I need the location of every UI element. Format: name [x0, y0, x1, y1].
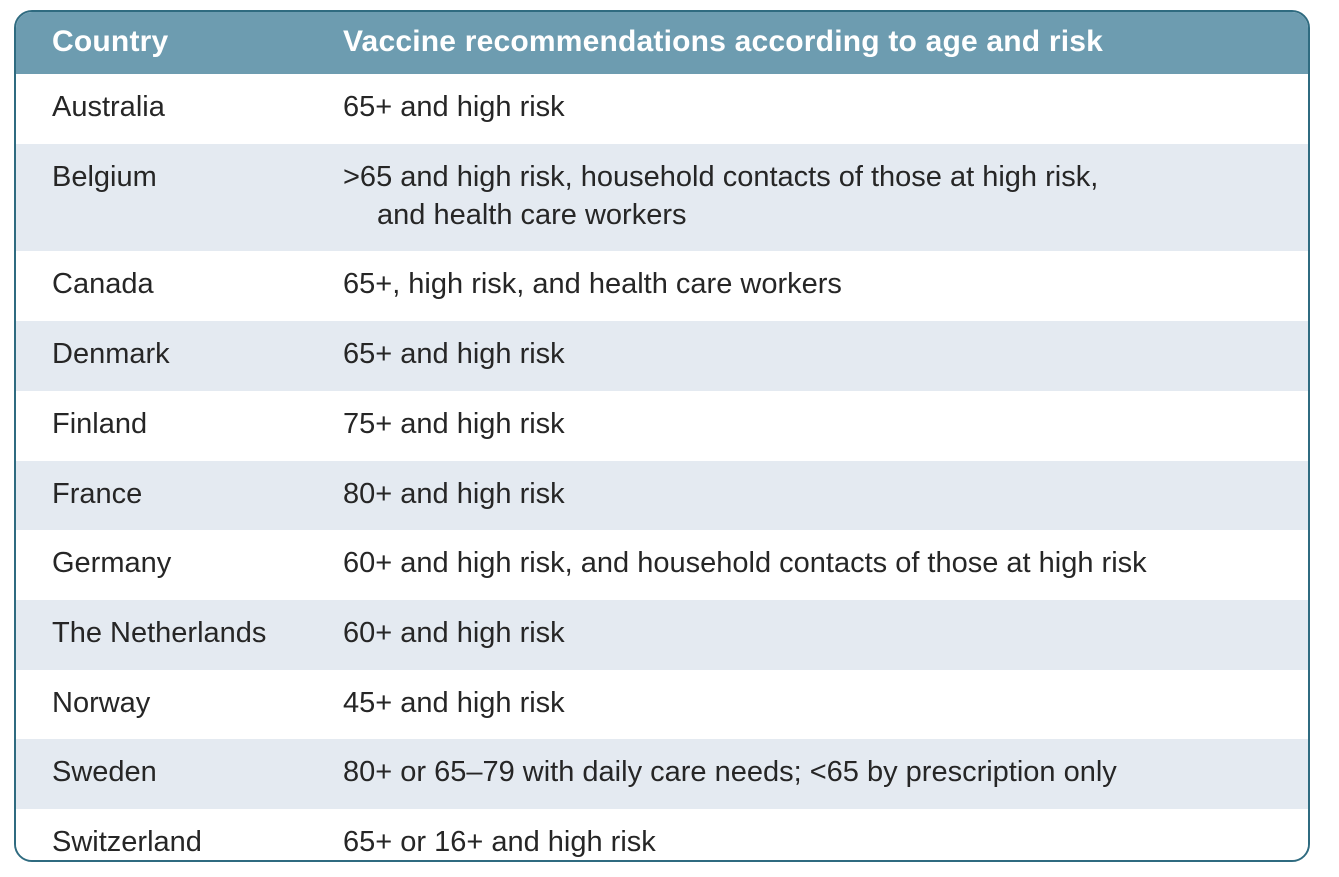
table-row: Canada65+, high risk, and health care wo… — [16, 251, 1308, 321]
recommendation-line-1: 65+, high risk, and health care workers — [343, 268, 842, 300]
recommendation-line-1: 80+ or 65–79 with daily care needs; <65 … — [343, 756, 1117, 788]
cell-recommendation: 65+ and high risk — [343, 321, 1308, 391]
cell-recommendation: 45+ and high risk — [343, 670, 1308, 740]
cell-country: Norway — [16, 670, 343, 740]
cell-country: Switzerland — [16, 809, 343, 862]
cell-country: Australia — [16, 74, 343, 144]
table-row: The Netherlands60+ and high risk — [16, 600, 1308, 670]
cell-country: The Netherlands — [16, 600, 343, 670]
table-row: Australia65+ and high risk — [16, 74, 1308, 144]
cell-country: Sweden — [16, 739, 343, 809]
table-row: Sweden80+ or 65–79 with daily care needs… — [16, 739, 1308, 809]
recommendation-line-1: 75+ and high risk — [343, 408, 565, 440]
table-header-row: Country Vaccine recommendations accordin… — [16, 12, 1308, 74]
cell-country: Germany — [16, 530, 343, 600]
recommendation-line-1: 65+ and high risk — [343, 338, 565, 370]
table-row: Switzerland65+ or 16+ and high risk — [16, 809, 1308, 862]
cell-recommendation: 65+, high risk, and health care workers — [343, 251, 1308, 321]
column-header-country: Country — [16, 12, 343, 74]
cell-country: Canada — [16, 251, 343, 321]
column-header-recommendation: Vaccine recommendations according to age… — [343, 12, 1308, 74]
cell-recommendation: 60+ and high risk, and household contact… — [343, 530, 1308, 600]
table-header: Country Vaccine recommendations accordin… — [16, 12, 1308, 74]
cell-recommendation: >65 and high risk, household contacts of… — [343, 144, 1308, 251]
cell-recommendation: 75+ and high risk — [343, 391, 1308, 461]
cell-recommendation: 80+ and high risk — [343, 461, 1308, 531]
recommendation-line-1: 60+ and high risk, and household contact… — [343, 547, 1147, 579]
recommendation-line-1: 60+ and high risk — [343, 617, 565, 649]
table-row: Belgium>65 and high risk, household cont… — [16, 144, 1308, 251]
recommendation-line-1: 45+ and high risk — [343, 687, 565, 719]
table-row: Germany60+ and high risk, and household … — [16, 530, 1308, 600]
cell-country: France — [16, 461, 343, 531]
table-row: France80+ and high risk — [16, 461, 1308, 531]
recommendation-line-1: 65+ and high risk — [343, 91, 565, 123]
recommendation-line-1: >65 and high risk, household contacts of… — [343, 161, 1098, 193]
table-row: Finland75+ and high risk — [16, 391, 1308, 461]
table-body: Australia65+ and high riskBelgium>65 and… — [16, 74, 1308, 862]
cell-recommendation: 65+ and high risk — [343, 74, 1308, 144]
cell-country: Finland — [16, 391, 343, 461]
recommendation-line-2: and health care workers — [343, 197, 1290, 235]
table-row: Denmark65+ and high risk — [16, 321, 1308, 391]
cell-recommendation: 60+ and high risk — [343, 600, 1308, 670]
data-table: Country Vaccine recommendations accordin… — [16, 12, 1308, 862]
cell-recommendation: 65+ or 16+ and high risk — [343, 809, 1308, 862]
cell-country: Denmark — [16, 321, 343, 391]
table-row: Norway45+ and high risk — [16, 670, 1308, 740]
recommendation-line-1: 80+ and high risk — [343, 478, 565, 510]
cell-country: Belgium — [16, 144, 343, 251]
cell-recommendation: 80+ or 65–79 with daily care needs; <65 … — [343, 739, 1308, 809]
recommendation-line-1: 65+ or 16+ and high risk — [343, 826, 656, 858]
vaccine-recommendations-table: Country Vaccine recommendations accordin… — [14, 10, 1310, 862]
